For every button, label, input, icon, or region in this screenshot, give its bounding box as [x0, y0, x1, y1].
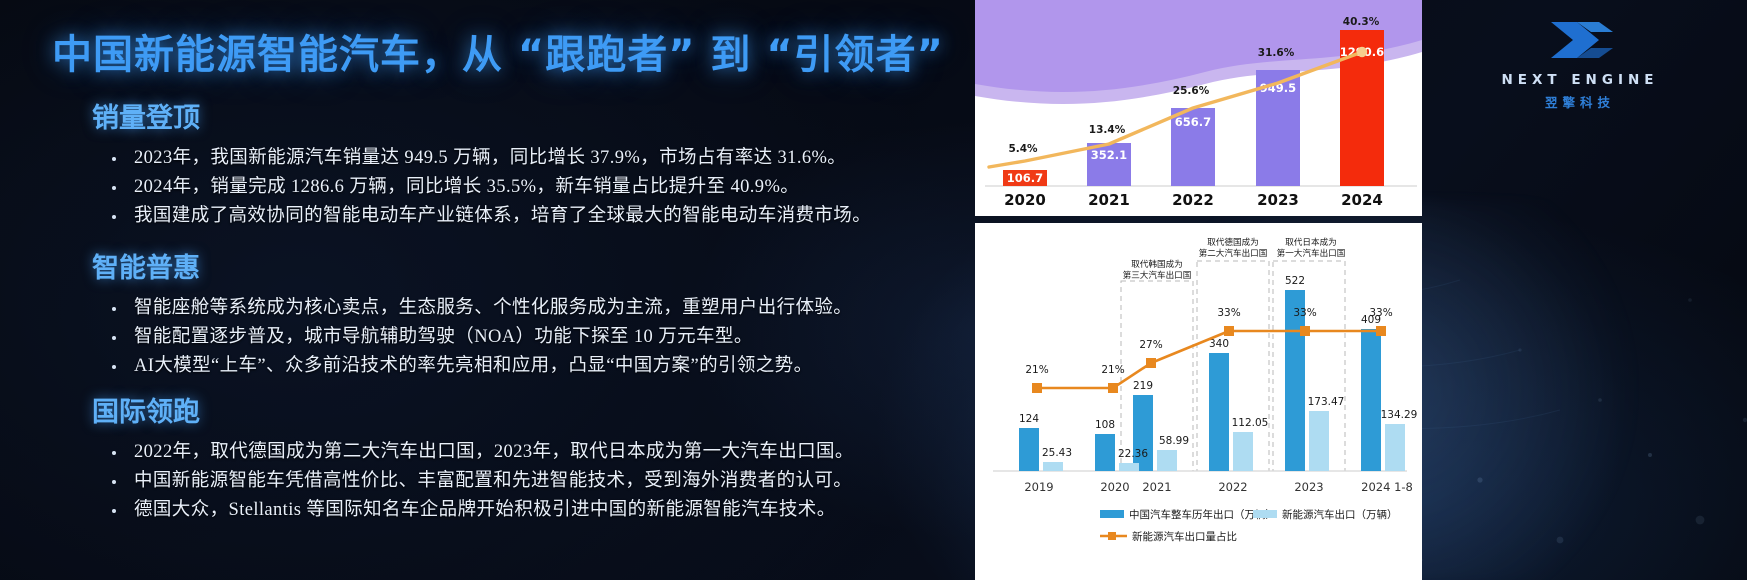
bar-label: 173.47 — [1308, 396, 1345, 408]
list-item: AI大模型“上车”、众多前沿技术的率先亮相和应用，凸显“中国方案”的引领之势。 — [92, 352, 972, 381]
pct-label: 5.4% — [1008, 143, 1038, 155]
x-tick: 2021 — [1088, 191, 1130, 209]
bar-label: 22.36 — [1118, 448, 1148, 460]
chart-nev-sales: 106.7 352.1 656.7 949.5 1290.6 5.4% 13.4… — [975, 0, 1422, 216]
bar-label: 25.43 — [1042, 447, 1072, 459]
list-item: 2023年，我国新能源汽车销量达 949.5 万辆，同比增长 37.9%，市场占… — [92, 144, 972, 173]
x-tick: 2020 — [1100, 480, 1129, 494]
chart-nev-sales-svg: 106.7 352.1 656.7 949.5 1290.6 5.4% 13.4… — [975, 0, 1422, 216]
bar-label: 58.99 — [1159, 435, 1189, 447]
content-column: 中国新能源智能汽车，从 “跟跑者” 到 “引领者” 销量登顶 2023年，我国新… — [0, 0, 975, 580]
bullet-list: 智能座舱等系统成为核心卖点，生态服务、个性化服务成为主流，重塑用户出行体验。 智… — [92, 294, 972, 381]
pct-label: 33% — [1369, 307, 1392, 319]
x-tick: 2022 — [1172, 191, 1214, 209]
bullet-text: 我国建成了高效协同的智能电动车产业链体系，培育了全球最大的智能电动车消费市场。 — [134, 206, 871, 226]
legend-marker-share — [1108, 532, 1116, 540]
x-tick: 2019 — [1024, 480, 1053, 494]
bar-2020-nev — [1119, 463, 1139, 471]
x-tick: 2023 — [1257, 191, 1299, 209]
bar-label: 219 — [1133, 380, 1153, 392]
annot-2021-line2: 第三大汽车出口国 — [1123, 269, 1192, 281]
bullet-list: 2022年，取代德国成为第二大汽车出口国，2023年，取代日本成为第一大汽车出口… — [92, 438, 972, 525]
bullet-text: 2024年，销量完成 1286.6 万辆，同比增长 35.5%，新车销量占比提升… — [134, 177, 799, 197]
x-tick: 2024 — [1341, 191, 1383, 209]
x-tick: 2021 — [1142, 480, 1171, 494]
bullet-dot-icon — [112, 365, 116, 369]
legend-label-share: 新能源汽车出口量占比 — [1132, 530, 1237, 543]
bar-label: 352.1 — [1091, 148, 1127, 162]
section-global: 国际领跑 2022年，取代德国成为第二大汽车出口国，2023年，取代日本成为第一… — [92, 390, 972, 525]
pct-label: 13.4% — [1089, 124, 1126, 136]
chart-auto-export-svg: 取代韩国成为 第三大汽车出口国 取代德国成为 第二大汽车出口国 取代日本成为 第… — [975, 223, 1422, 580]
bar-2022-total — [1209, 353, 1229, 471]
bullet-text: 2023年，我国新能源汽车销量达 949.5 万辆，同比增长 37.9%，市场占… — [134, 148, 846, 168]
pct-label: 25.6% — [1173, 85, 1210, 97]
pct-label: 33% — [1293, 307, 1316, 319]
list-item: 德国大众，Stellantis 等国际知名车企品牌开始积极引进中国的新能源智能汽… — [92, 496, 972, 525]
bullet-dot-icon — [112, 215, 116, 219]
annot-2022-line1: 取代德国成为 — [1207, 236, 1259, 248]
list-item: 2024年，销量完成 1286.6 万辆，同比增长 35.5%，新车销量占比提升… — [92, 173, 972, 202]
bar-2020-total — [1095, 434, 1115, 471]
section-heading: 国际领跑 — [92, 390, 972, 429]
logo-mark-icon — [1455, 10, 1705, 70]
bar-label: 112.05 — [1232, 417, 1269, 429]
section-sales: 销量登顶 2023年，我国新能源汽车销量达 949.5 万辆，同比增长 37.9… — [92, 96, 972, 231]
line-markers — [1357, 47, 1367, 57]
bullet-dot-icon — [112, 480, 116, 484]
list-item: 智能配置逐步普及，城市导航辅助驾驶（NOA）功能下探至 10 万元车型。 — [92, 323, 972, 352]
brand-logo: NEXT ENGINE 翌擎科技 — [1455, 10, 1705, 120]
bar-label: 108 — [1095, 419, 1115, 431]
section-smart: 智能普惠 智能座舱等系统成为核心卖点，生态服务、个性化服务成为主流，重塑用户出行… — [92, 246, 972, 381]
bullet-dot-icon — [112, 451, 116, 455]
pct-label: 33% — [1217, 307, 1240, 319]
list-item: 2022年，取代德国成为第二大汽车出口国，2023年，取代日本成为第一大汽车出口… — [92, 438, 972, 467]
bar-2019-nev — [1043, 462, 1063, 471]
bullet-text: 智能配置逐步普及，城市导航辅助驾驶（NOA）功能下探至 10 万元车型。 — [134, 327, 753, 347]
bar-2019-total — [1019, 428, 1039, 471]
bullet-dot-icon — [112, 509, 116, 513]
legend-swatch-nev — [1253, 510, 1277, 518]
list-item: 中国新能源智能车凭借高性价比、丰富配置和先进智能技术，受到海外消费者的认可。 — [92, 467, 972, 496]
bar-2024-nev — [1385, 424, 1405, 471]
pct-label: 21% — [1025, 364, 1048, 376]
right-panel: NEXT ENGINE 翌擎科技 — [975, 0, 1747, 580]
bar-2023-nev — [1309, 411, 1329, 471]
annot-2023-line1: 取代日本成为 — [1285, 236, 1337, 248]
annot-2021-line1: 取代韩国成为 — [1131, 258, 1183, 270]
bar-label: 656.7 — [1175, 115, 1211, 129]
logo-name: NEXT ENGINE — [1455, 72, 1705, 88]
x-tick: 2022 — [1218, 480, 1247, 494]
bullet-text: AI大模型“上车”、众多前沿技术的率先亮相和应用，凸显“中国方案”的引领之势。 — [134, 356, 812, 376]
logo-cn-name: 翌擎科技 — [1455, 92, 1705, 111]
legend-swatch-total — [1100, 510, 1124, 518]
bar-2021-nev — [1157, 450, 1177, 471]
bar-2024-total — [1361, 329, 1381, 471]
list-item: 智能座舱等系统成为核心卖点，生态服务、个性化服务成为主流，重塑用户出行体验。 — [92, 294, 972, 323]
bar-label: 106.7 — [1007, 171, 1043, 185]
pct-label: 21% — [1101, 364, 1124, 376]
bar-label: 522 — [1285, 275, 1305, 287]
bar-label: 124 — [1019, 413, 1039, 425]
bullet-text: 中国新能源智能车凭借高性价比、丰富配置和先进智能技术，受到海外消费者的认可。 — [134, 471, 852, 491]
bullet-text: 2022年，取代德国成为第二大汽车出口国，2023年，取代日本成为第一大汽车出口… — [134, 442, 854, 462]
bar-label: 340 — [1209, 338, 1229, 350]
bullet-text: 智能座舱等系统成为核心卖点，生态服务、个性化服务成为主流，重塑用户出行体验。 — [134, 298, 852, 318]
bullet-dot-icon — [112, 336, 116, 340]
annot-2023-line2: 第一大汽车出口国 — [1277, 247, 1346, 259]
pct-label: 27% — [1139, 339, 1162, 351]
section-heading: 智能普惠 — [92, 246, 972, 285]
list-item: 我国建成了高效协同的智能电动车产业链体系，培育了全球最大的智能电动车消费市场。 — [92, 202, 972, 231]
annot-2022-line2: 第二大汽车出口国 — [1199, 247, 1268, 259]
bullet-dot-icon — [112, 307, 116, 311]
bullet-list: 2023年，我国新能源汽车销量达 949.5 万辆，同比增长 37.9%，市场占… — [92, 144, 972, 231]
page-title: 中国新能源智能汽车，从 “跟跑者” 到 “引领者” — [52, 22, 944, 80]
pct-label: 31.6% — [1258, 47, 1295, 59]
bar-label: 134.29 — [1381, 409, 1418, 421]
x-tick: 2024 1-8 — [1361, 480, 1413, 494]
bullet-dot-icon — [112, 186, 116, 190]
x-tick: 2020 — [1004, 191, 1046, 209]
bar-2022-nev — [1233, 432, 1253, 471]
section-heading: 销量登顶 — [92, 96, 972, 135]
pct-label: 40.3% — [1343, 16, 1380, 28]
legend-label-nev: 新能源汽车出口（万辆） — [1282, 508, 1398, 521]
chart-auto-export: 取代韩国成为 第三大汽车出口国 取代德国成为 第二大汽车出口国 取代日本成为 第… — [975, 223, 1422, 580]
x-tick: 2023 — [1294, 480, 1323, 494]
bullet-dot-icon — [112, 157, 116, 161]
bullet-text: 德国大众，Stellantis 等国际知名车企品牌开始积极引进中国的新能源智能汽… — [134, 500, 836, 520]
